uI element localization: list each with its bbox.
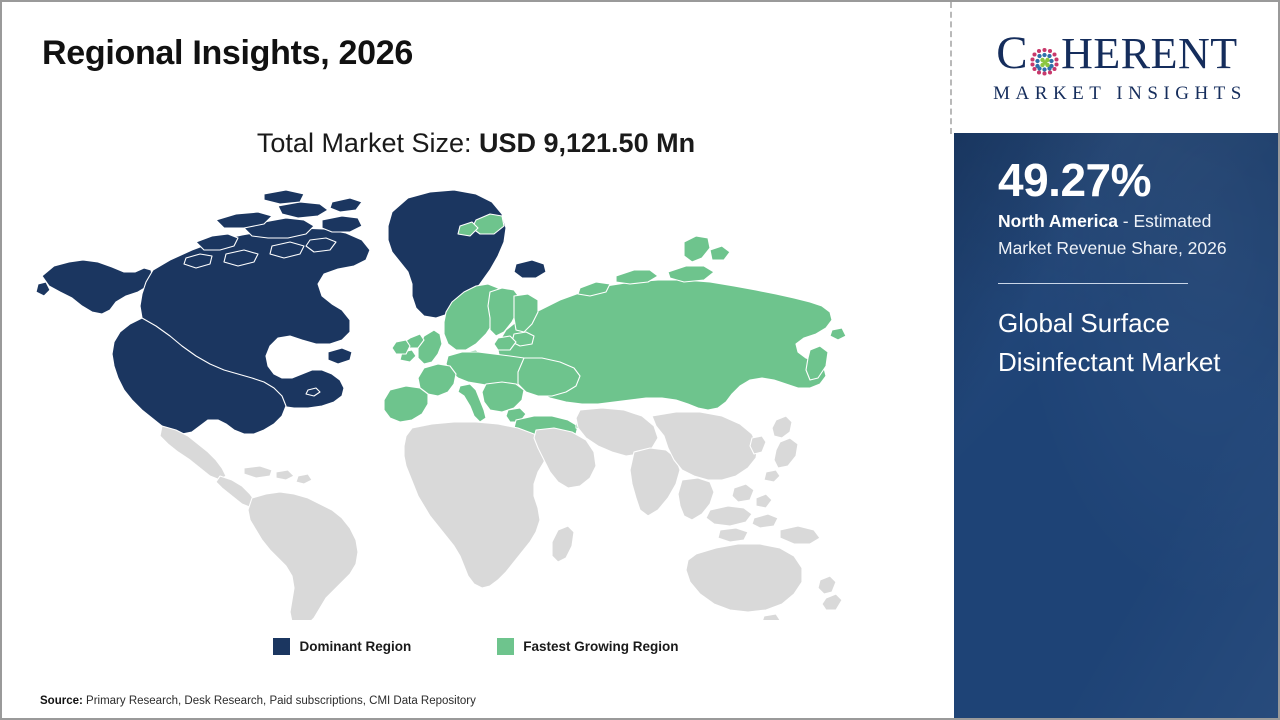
logo-wordmark: C — [996, 30, 1237, 77]
vertical-dashed-divider — [950, 2, 952, 134]
revenue-share-percent: 49.27% — [998, 156, 1238, 204]
total-market-size-label: Total Market Size: — [257, 128, 479, 158]
source-line: Source: Primary Research, Desk Research,… — [40, 695, 476, 707]
page-title: Regional Insights, 2026 — [42, 34, 413, 73]
legend-label-dominant: Dominant Region — [299, 639, 411, 654]
highlight-side-panel: 49.27% North America - Estimated Market … — [954, 133, 1280, 718]
logo-letters-rest: HERENT — [1061, 32, 1238, 76]
source-key: Source: — [40, 695, 83, 707]
world-map-container — [20, 180, 850, 620]
total-market-size-value: USD 9,121.50 Mn — [479, 128, 695, 158]
legend-swatch-dominant — [273, 638, 290, 655]
logo-subtitle: MARKET INSIGHTS — [987, 83, 1247, 105]
dominant-region-name: North America — [998, 211, 1118, 231]
legend-label-fastest-growing: Fastest Growing Region — [523, 639, 678, 654]
market-name: Global Surface Disinfectant Market — [998, 304, 1238, 381]
revenue-share-description: North America - Estimated Market Revenue… — [998, 208, 1238, 261]
legend-item-dominant[interactable]: Dominant Region — [273, 638, 411, 655]
world-map — [20, 180, 850, 620]
brand-logo[interactable]: C — [954, 2, 1280, 133]
logo-letter-c: C — [996, 30, 1028, 77]
legend-item-fastest-growing[interactable]: Fastest Growing Region — [497, 638, 678, 655]
left-content-panel: Regional Insights, 2026 Total Market Siz… — [2, 2, 950, 718]
total-market-size: Total Market Size: USD 9,121.50 Mn — [2, 128, 950, 159]
map-region-neutral — [160, 408, 842, 620]
slide-canvas: Regional Insights, 2026 Total Market Siz… — [0, 0, 1280, 720]
source-value: Primary Research, Desk Research, Paid su… — [83, 695, 476, 707]
map-legend: Dominant Region Fastest Growing Region — [2, 638, 950, 655]
panel-divider-rule — [998, 283, 1188, 284]
side-panel-content: 49.27% North America - Estimated Market … — [954, 156, 1280, 381]
legend-swatch-fastest-growing — [497, 638, 514, 655]
globe-dots-icon — [1029, 41, 1060, 72]
